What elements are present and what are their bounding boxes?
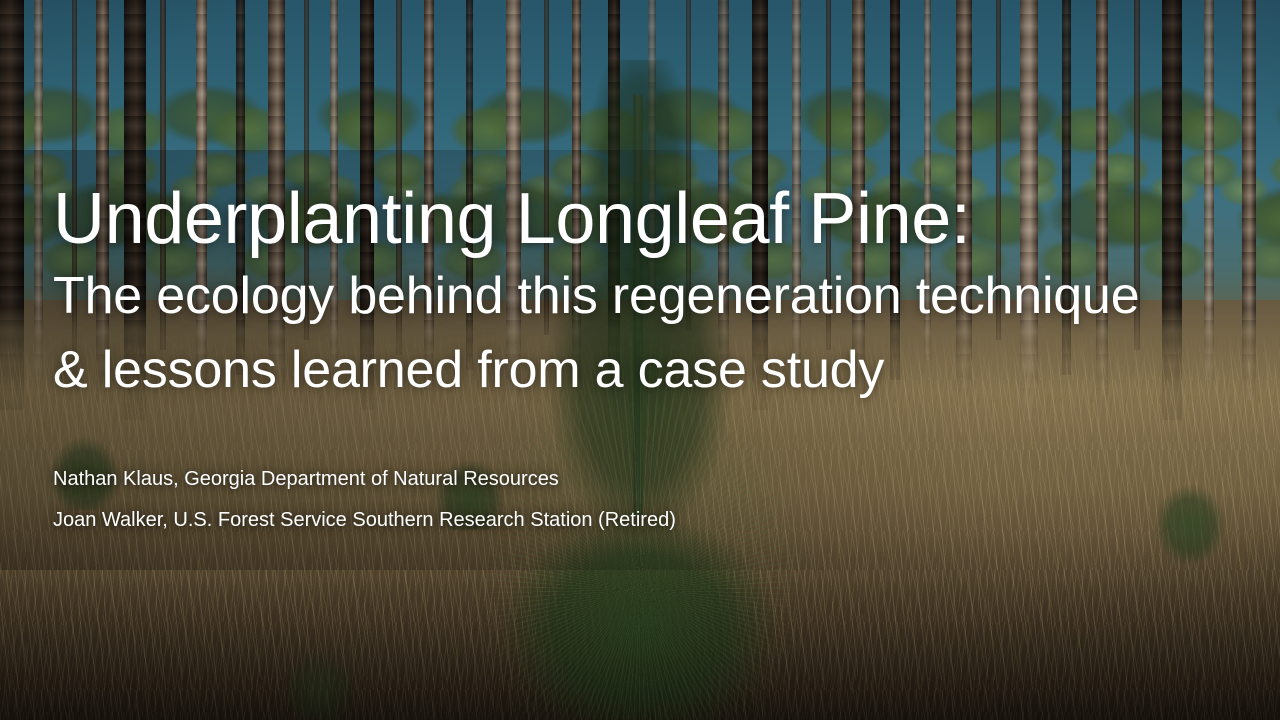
slide-subtitle-line-2: & lessons learned from a case study [53,337,1139,403]
title-slide: Underplanting Longleaf Pine: The ecology… [0,0,1280,720]
author-block: Nathan Klaus, Georgia Department of Natu… [53,469,676,530]
author-line-2: Joan Walker, U.S. Forest Service Souther… [53,510,676,530]
slide-subtitle-line-1: The ecology behind this regeneration tec… [53,263,1139,329]
slide-title: Underplanting Longleaf Pine: [53,183,1139,255]
slide-text-layer: Underplanting Longleaf Pine: The ecology… [53,0,1233,720]
author-line-1: Nathan Klaus, Georgia Department of Natu… [53,469,676,489]
title-block: Underplanting Longleaf Pine: The ecology… [53,183,1139,403]
